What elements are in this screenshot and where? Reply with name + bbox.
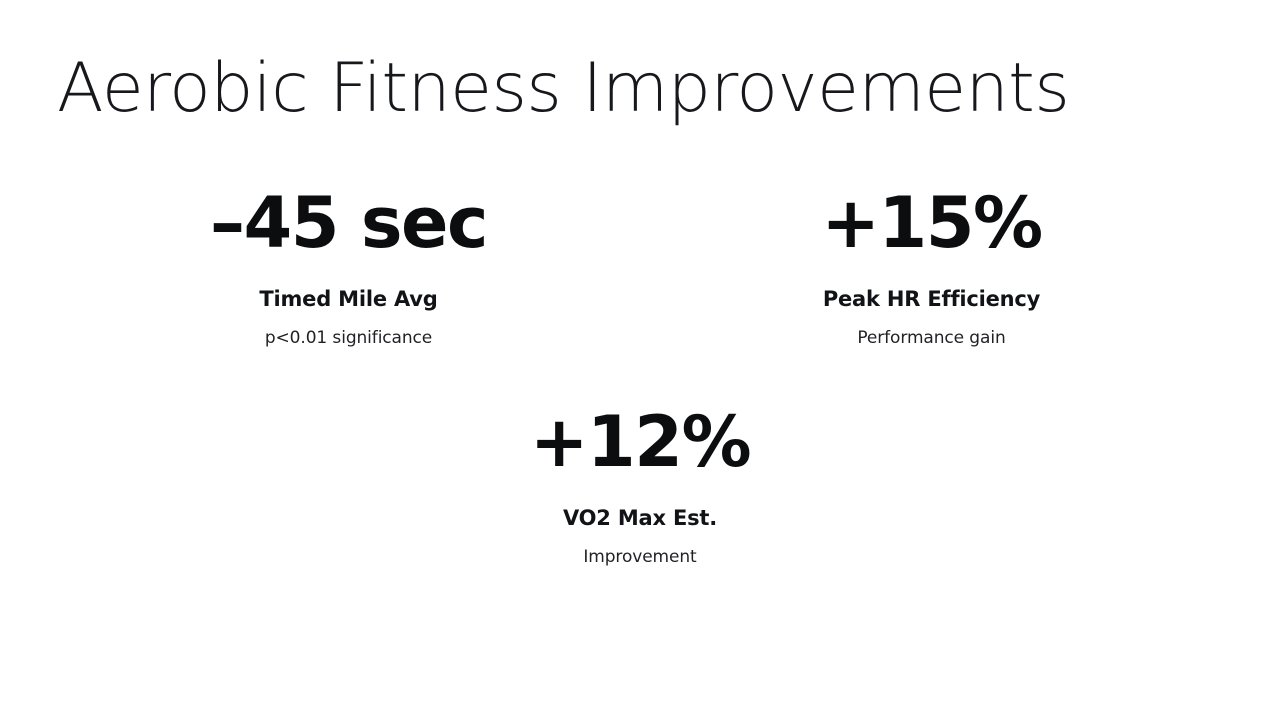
stat-label: Timed Mile Avg	[259, 287, 437, 312]
page-title: Aerobic Fitness Improvements	[57, 52, 1069, 125]
stat-block-vo2-max-est: +12% VO2 Max Est. Improvement	[57, 407, 1223, 568]
stat-label: VO2 Max Est.	[563, 506, 717, 531]
stat-sublabel: Improvement	[583, 547, 696, 567]
stat-value: +12%	[530, 407, 750, 477]
stat-value: +15%	[821, 188, 1041, 258]
stats-grid: –45 sec Timed Mile Avg p<0.01 significan…	[57, 188, 1223, 567]
stat-label: Peak HR Efficiency	[823, 287, 1040, 312]
stat-block-peak-hr-efficiency: +15% Peak HR Efficiency Performance gain	[640, 188, 1223, 349]
stat-block-timed-mile-avg: –45 sec Timed Mile Avg p<0.01 significan…	[57, 188, 640, 349]
stat-sublabel: Performance gain	[857, 328, 1005, 348]
slide: Aerobic Fitness Improvements –45 sec Tim…	[0, 0, 1280, 720]
stat-sublabel: p<0.01 significance	[265, 328, 432, 348]
stat-value: –45 sec	[210, 188, 487, 258]
